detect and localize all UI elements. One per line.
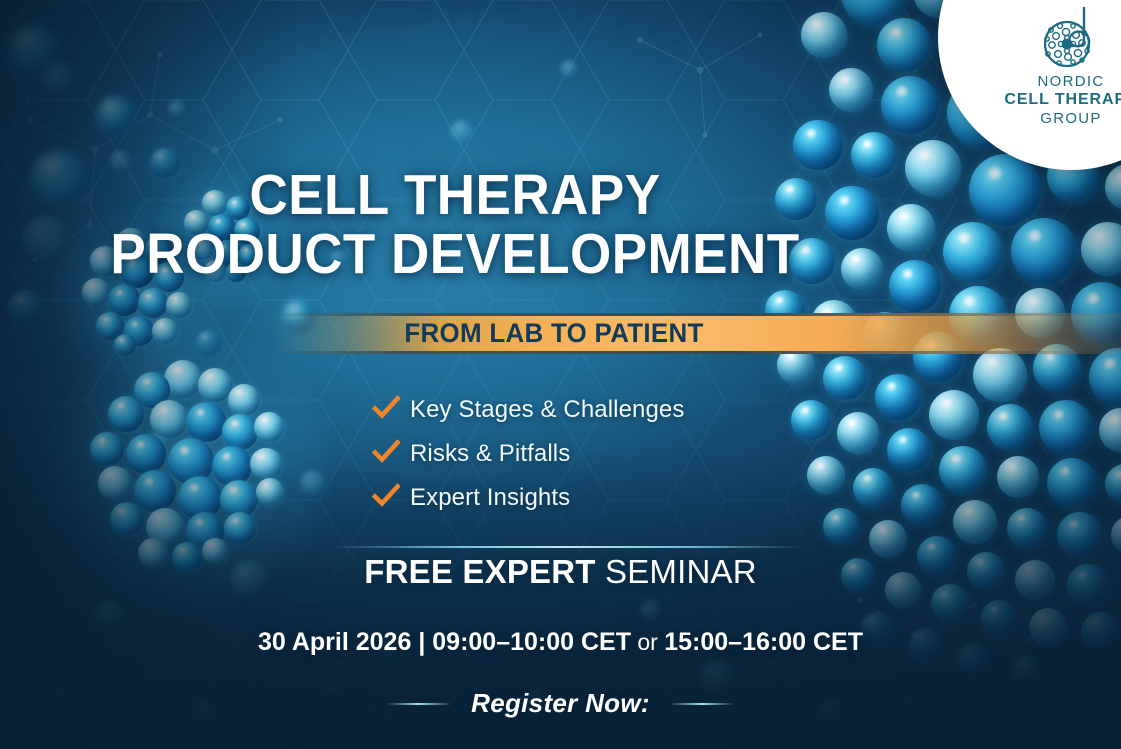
logo-line-1: NORDIC bbox=[1004, 73, 1121, 91]
seminar-label-light: SEMINAR bbox=[596, 553, 757, 590]
datetime-conjunction: or bbox=[631, 629, 664, 655]
register-now-label: Register Now: bbox=[471, 688, 650, 719]
seminar-label-strong: FREE EXPERT bbox=[364, 553, 595, 590]
event-date: 30 April 2026 bbox=[258, 628, 411, 656]
subtitle-band-text: FROM LAB TO PATIENT bbox=[283, 313, 824, 354]
event-time-slot-1: 09:00–10:00 CET bbox=[432, 628, 631, 656]
headline-line-2: PRODUCT DEVELOPMENT bbox=[32, 227, 878, 282]
check-icon bbox=[372, 394, 400, 427]
logo-line-3: GROUP bbox=[1004, 110, 1121, 128]
list-item: Expert Insights bbox=[372, 476, 684, 520]
list-item: Risks & Pitfalls bbox=[372, 432, 684, 476]
subtitle-band: FROM LAB TO PATIENT bbox=[272, 313, 1121, 354]
list-item-label: Risks & Pitfalls bbox=[410, 440, 570, 468]
datetime-separator: | bbox=[411, 628, 432, 656]
cell-colony-caduceus-icon bbox=[1039, 6, 1103, 70]
list-item: Key Stages & Challenges bbox=[372, 388, 684, 432]
logo-badge: NORDIC CELL THERAPY GROUP bbox=[938, 0, 1121, 170]
register-row: Register Now: bbox=[0, 688, 1121, 719]
feature-list: Key Stages & Challenges Risks & Pitfalls… bbox=[372, 388, 684, 520]
datetime-line: 30 April 2026 | 09:00–10:00 CET or 15:00… bbox=[0, 628, 1121, 657]
check-icon bbox=[372, 482, 400, 515]
check-icon bbox=[372, 438, 400, 471]
divider-dash-right-icon bbox=[672, 703, 734, 705]
divider-rule bbox=[332, 546, 802, 548]
logo-wordmark: NORDIC CELL THERAPY GROUP bbox=[1004, 73, 1121, 127]
headline-line-1: CELL THERAPY bbox=[32, 168, 878, 223]
divider-dash-left-icon bbox=[387, 703, 449, 705]
logo-line-2: CELL THERAPY bbox=[1004, 91, 1121, 110]
seminar-banner: CELL THERAPY PRODUCT DEVELOPMENT FROM LA… bbox=[0, 0, 1121, 749]
list-item-label: Key Stages & Challenges bbox=[410, 396, 684, 424]
headline-block: CELL THERAPY PRODUCT DEVELOPMENT bbox=[0, 168, 910, 283]
event-time-slot-2: 15:00–16:00 CET bbox=[664, 628, 863, 656]
seminar-label: FREE EXPERT SEMINAR bbox=[0, 553, 1121, 591]
list-item-label: Expert Insights bbox=[410, 484, 570, 512]
